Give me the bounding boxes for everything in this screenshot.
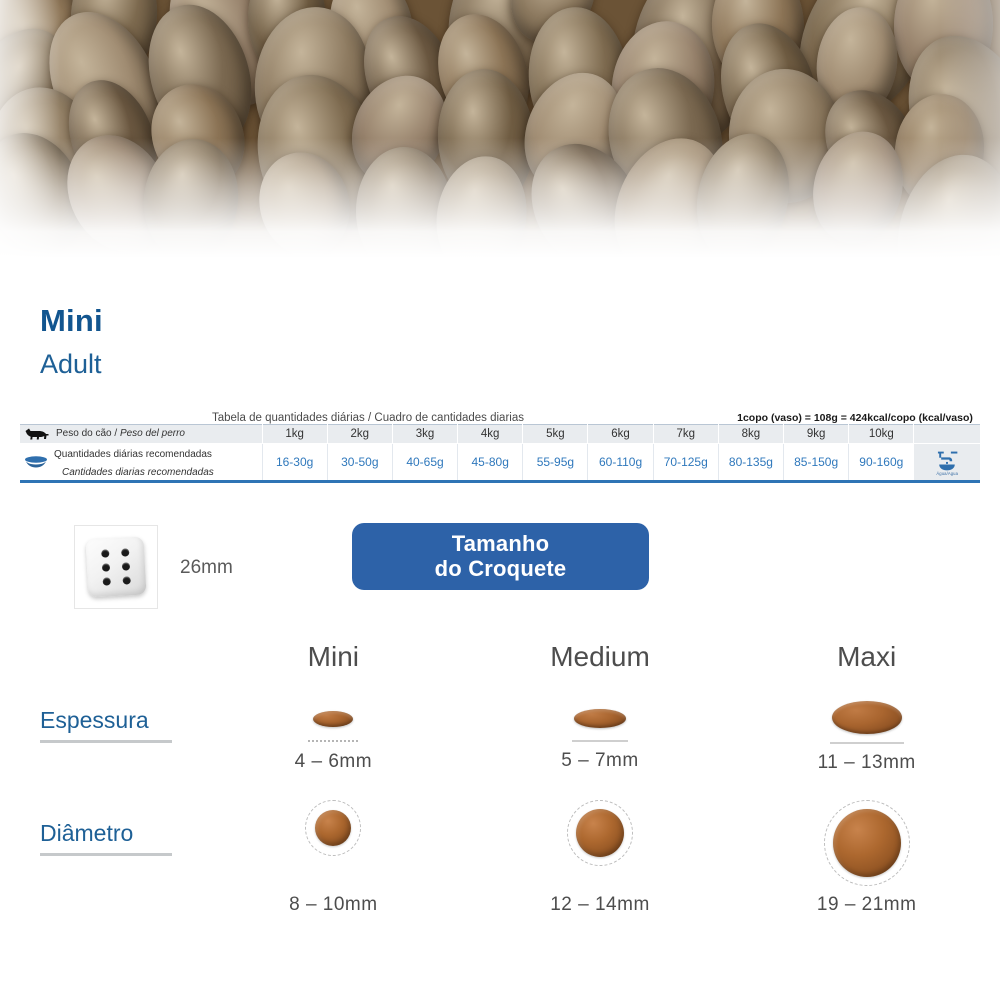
kibble-size-header: 26mm Tamanho do Croquete — [0, 515, 1000, 625]
diameter-mini-cell: 8 – 10mm — [200, 800, 467, 916]
badge-line-2: do Croquete — [435, 557, 567, 582]
amount-value-7: 70-125g — [653, 444, 718, 482]
amount-row-label-cell: Quantidades diárias recomendadas Cantida… — [20, 444, 262, 482]
weight-header-10: 10kg — [849, 425, 914, 444]
kibble-top-maxi — [833, 809, 901, 877]
dice-measure-label: 26mm — [180, 557, 233, 579]
weight-header-9: 9kg — [784, 425, 849, 444]
amount-value-4: 45-80g — [458, 444, 523, 482]
size-column-medium: Medium — [467, 641, 734, 697]
size-column-maxi: Maxi — [733, 641, 1000, 697]
amount-value-2: 30-50g — [327, 444, 392, 482]
amount-value-10: 90-160g — [849, 444, 914, 482]
size-comparison-header: Mini Medium Maxi — [0, 641, 1000, 697]
kibble-size-badge: Tamanho do Croquete — [352, 523, 649, 590]
diameter-mini-value: 8 – 10mm — [289, 894, 377, 916]
tick-maxi — [830, 742, 904, 744]
hero-kibble-photo — [0, 0, 1000, 258]
size-row-thickness: Espessura 4 – 6mm 5 – 7mm 11 – 13mm — [0, 697, 1000, 774]
weight-row-label: Peso do cão / Peso del perro — [56, 428, 185, 440]
feeding-table-caption: Tabela de quantidades diárias / Cuadro d… — [20, 412, 730, 424]
dim-ring-medium — [567, 800, 633, 866]
row-label-underline — [40, 853, 172, 856]
amount-value-9: 85-150g — [784, 444, 849, 482]
row-label-underline — [40, 740, 172, 743]
thickness-mini-cell: 4 – 6mm — [200, 697, 467, 773]
feeding-table-section: Tabela de quantidades diárias / Cuadro d… — [20, 406, 980, 483]
size-comparison-section: Mini Medium Maxi Espessura 4 – 6mm 5 – 7… — [0, 641, 1000, 916]
water-tap-bowl-icon — [934, 449, 960, 471]
diameter-medium-value: 12 – 14mm — [550, 894, 650, 916]
feeding-table-cup-note: 1copo (vaso) = 108g = 424kcal/copo (kcal… — [730, 412, 980, 424]
thickness-maxi-cell: 11 – 13mm — [733, 697, 1000, 774]
kibble-top-mini — [315, 810, 351, 846]
water-cell: Água/Agua — [914, 444, 980, 482]
dice-reference-box — [74, 525, 158, 609]
weight-header-6: 6kg — [588, 425, 653, 444]
tick-mini — [308, 740, 358, 743]
row-label-thickness: Espessura — [0, 697, 200, 743]
kibble-side-mini — [313, 711, 353, 727]
dim-ring-maxi — [824, 800, 910, 886]
amount-value-5: 55-95g — [523, 444, 588, 482]
table-row-weights: Peso do cão / Peso del perro 1kg2kg3kg4k… — [20, 425, 980, 444]
weight-header-1: 1kg — [262, 425, 327, 444]
thickness-maxi-value: 11 – 13mm — [818, 752, 916, 774]
tick-medium — [572, 740, 628, 742]
diameter-medium-cell: 12 – 14mm — [467, 800, 734, 916]
weight-header-8: 8kg — [718, 425, 783, 444]
weight-row-label-cell: Peso do cão / Peso del perro — [20, 425, 262, 444]
dice-six-icon — [86, 537, 147, 598]
page-subtitle: Adult — [40, 349, 1000, 380]
amount-row-label: Quantidades diárias recomendadas Cantida… — [54, 444, 262, 480]
dog-bowl-icon — [24, 455, 48, 469]
badge-line-1: Tamanho — [452, 532, 550, 557]
thickness-medium-cell: 5 – 7mm — [467, 697, 734, 772]
product-title-block: Mini Adult — [0, 258, 1000, 380]
row-label-diameter: Diâmetro — [0, 800, 200, 856]
page-title: Mini — [40, 303, 1000, 339]
amount-value-6: 60-110g — [588, 444, 653, 482]
diameter-maxi-cell: 19 – 21mm — [733, 800, 1000, 916]
table-row-amounts: Quantidades diárias recomendadas Cantida… — [20, 444, 980, 482]
weight-header-4: 4kg — [458, 425, 523, 444]
kibble-side-medium — [574, 709, 626, 728]
feeding-table: Peso do cão / Peso del perro 1kg2kg3kg4k… — [20, 424, 980, 483]
dim-ring-mini — [305, 800, 361, 856]
weight-header-3: 3kg — [392, 425, 457, 444]
feeding-table-captions: Tabela de quantidades diárias / Cuadro d… — [20, 406, 980, 424]
weight-header-5: 5kg — [523, 425, 588, 444]
kibble-side-maxi — [832, 701, 902, 734]
amount-value-8: 80-135g — [718, 444, 783, 482]
size-column-mini: Mini — [200, 641, 467, 697]
diameter-maxi-value: 19 – 21mm — [817, 894, 917, 916]
thickness-mini-value: 4 – 6mm — [295, 751, 372, 773]
weight-header-2: 2kg — [327, 425, 392, 444]
size-row-diameter: Diâmetro 8 – 10mm 12 – 14mm 19 – 21mm — [0, 800, 1000, 916]
weight-header-7: 7kg — [653, 425, 718, 444]
amount-value-1: 16-30g — [262, 444, 327, 482]
water-header-cell — [914, 425, 980, 444]
dog-silhouette-icon — [24, 428, 50, 441]
thickness-medium-value: 5 – 7mm — [561, 750, 638, 772]
kibble-top-medium — [576, 809, 624, 857]
water-label: Água/Agua — [914, 471, 980, 476]
amount-value-3: 40-65g — [392, 444, 457, 482]
